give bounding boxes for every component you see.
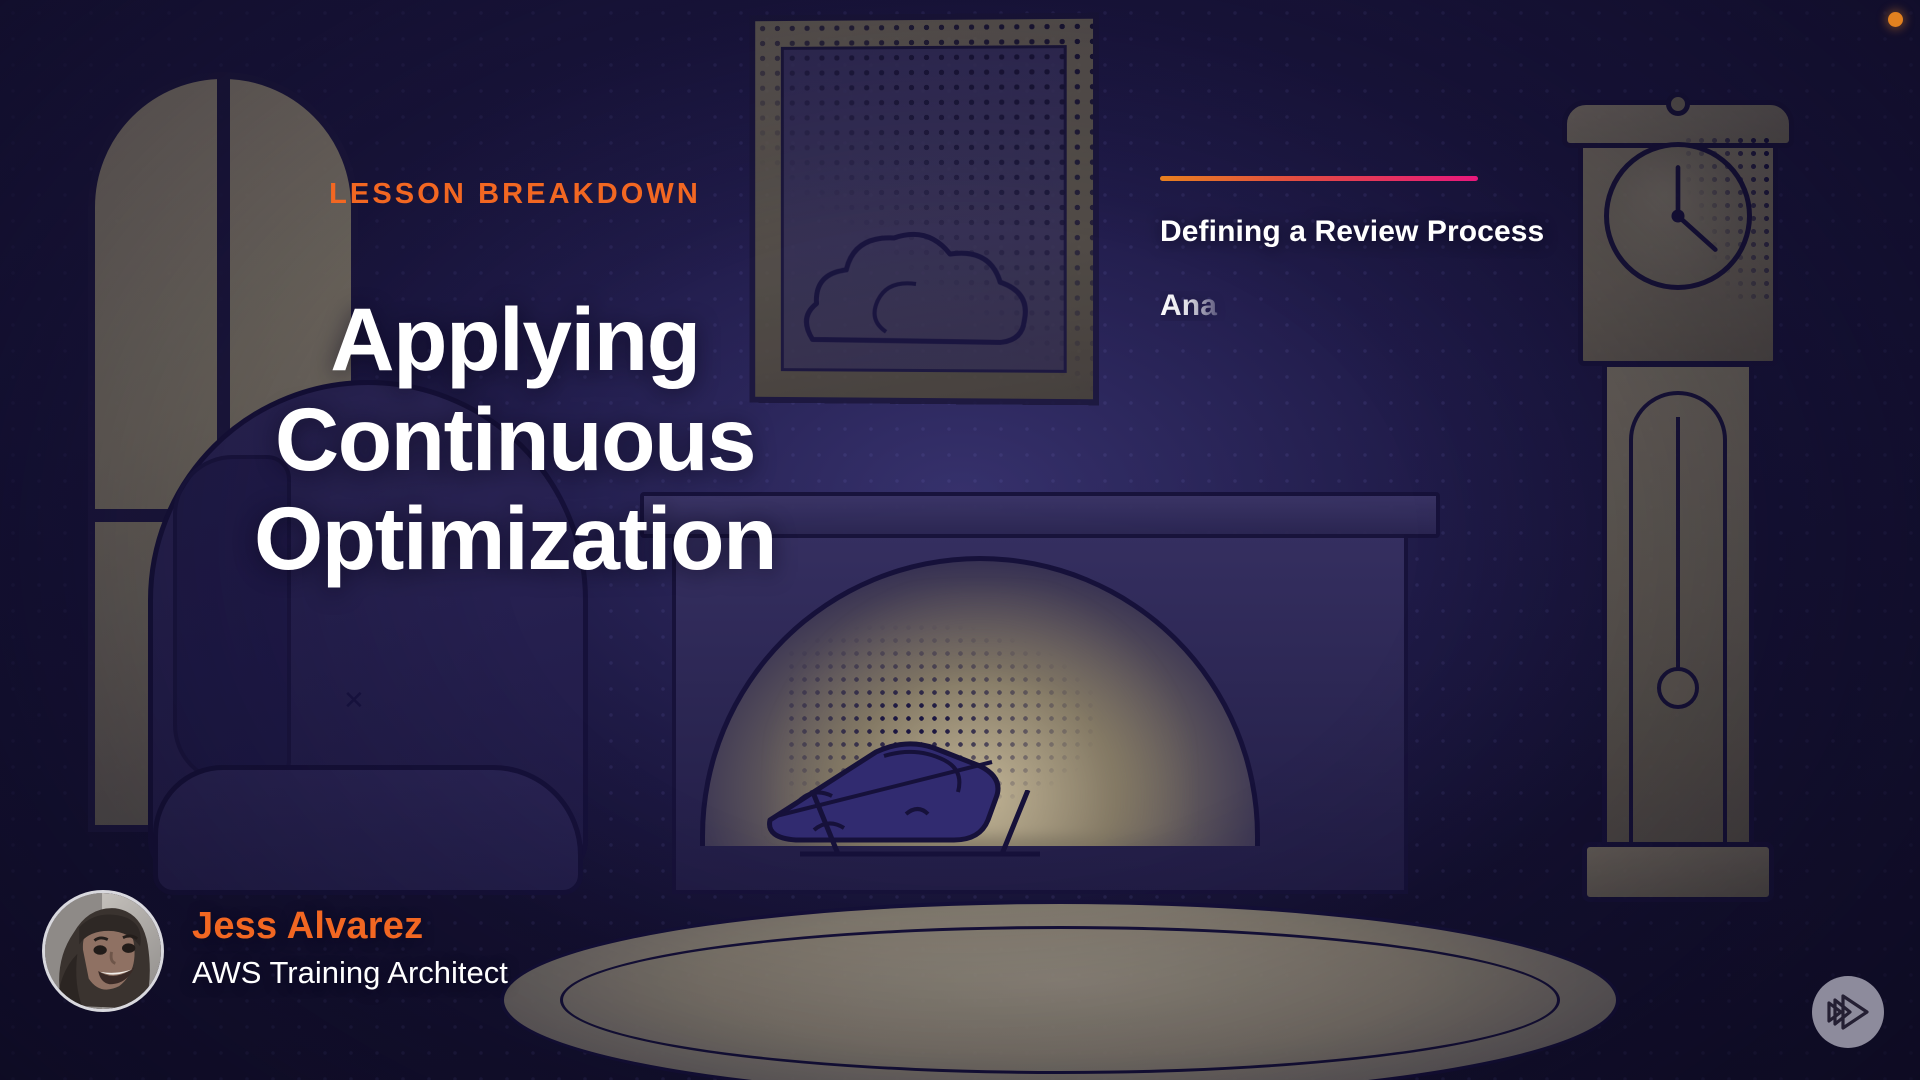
play-triangle-logo-icon	[1826, 992, 1870, 1032]
presenter-role: AWS Training Architect	[192, 954, 508, 993]
avatar	[42, 890, 164, 1012]
agenda-panel: Defining a Review Process Ana	[1160, 176, 1820, 365]
page-title: Applying Continuous Optimization	[0, 290, 1030, 589]
gradient-divider	[1160, 176, 1478, 181]
presentation-slide: ✕ ✕	[0, 0, 1920, 1080]
presenter-text: Jess Alvarez AWS Training Architect	[192, 906, 508, 997]
agenda-list: Defining a Review Process Ana	[1160, 217, 1820, 321]
presenter-name: Jess Alvarez	[192, 906, 508, 947]
list-item: Defining a Review Process	[1160, 217, 1820, 247]
brand-badge[interactable]	[1812, 976, 1884, 1048]
presenter-photo-icon	[45, 893, 161, 1009]
list-item: Ana	[1160, 291, 1820, 321]
title-line-3: Optimization	[0, 489, 1030, 589]
title-line-1: Applying	[0, 290, 1030, 390]
slide-eyebrow: LESSON BREAKDOWN	[0, 178, 1030, 211]
orange-dot-icon	[1888, 12, 1903, 27]
title-line-2: Continuous	[0, 390, 1030, 490]
presenter-info: Jess Alvarez AWS Training Architect	[42, 890, 508, 1012]
